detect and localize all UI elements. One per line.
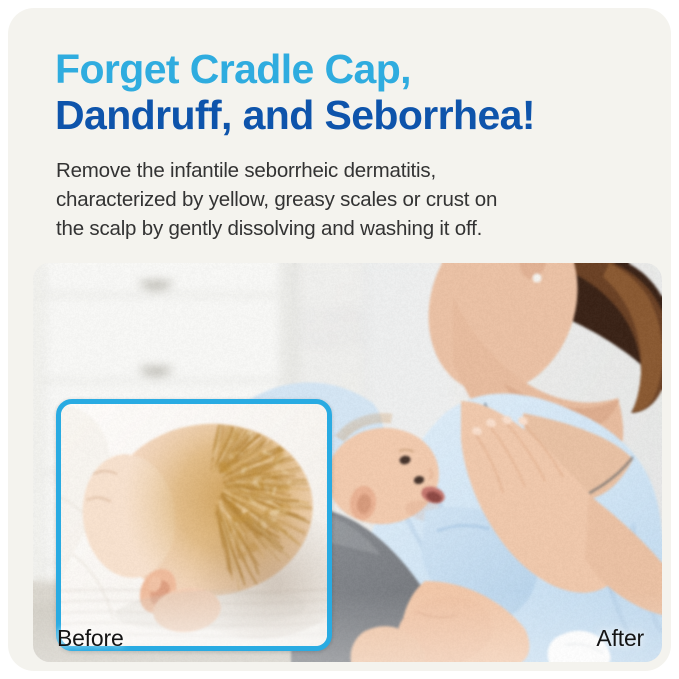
caption-before: Before [57,625,124,652]
infographic-card: Forget Cradle Cap, Dandruff, and Seborrh… [8,8,671,671]
before-photo-image [61,404,327,646]
body-copy-line-2: characterized by yellow, greasy scales o… [56,185,636,214]
headline-block: Forget Cradle Cap, Dandruff, and Seborrh… [55,46,645,138]
body-copy-line-3: the scalp by gently dissolving and washi… [56,214,636,243]
headline-line-1: Forget Cradle Cap, [55,46,645,92]
body-copy: Remove the infantile seborrheic dermatit… [56,156,636,243]
body-copy-line-1: Remove the infantile seborrheic dermatit… [56,156,636,185]
headline-line-2: Dandruff, and Seborrhea! [55,92,645,138]
before-inset-photo [56,399,332,651]
caption-after: After [596,625,644,652]
main-after-photo: Before After [33,263,662,662]
